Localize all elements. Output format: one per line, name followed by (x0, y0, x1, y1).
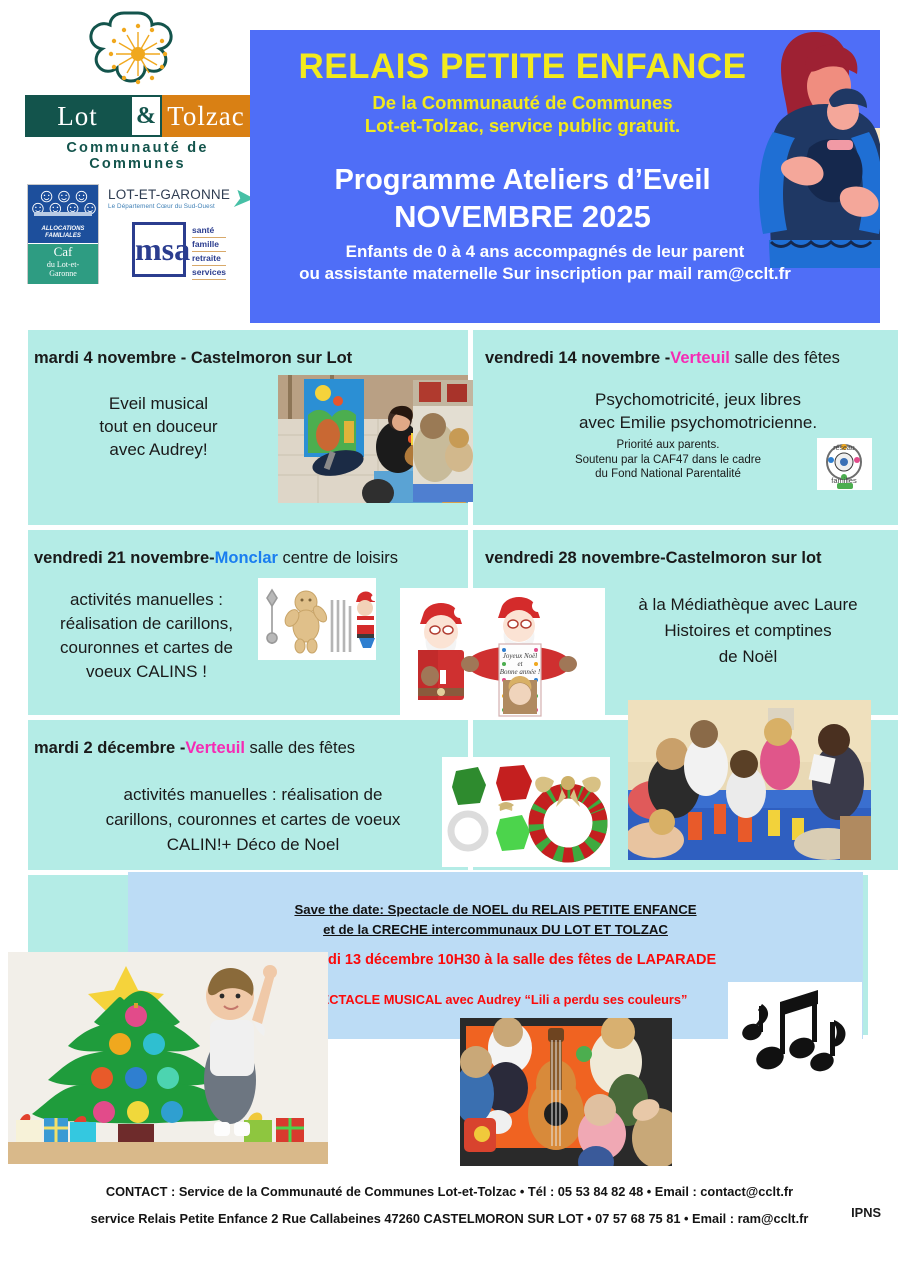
event-location-suffix: salle des fêtes (245, 739, 355, 757)
caf-bar-decoration (34, 212, 92, 216)
reseau-familles-logo: réseau familles (817, 438, 872, 490)
event-title-2-decembre: mardi 2 décembre -Verteuil salle des fêt… (28, 720, 468, 758)
event-location: Castelmoron sur lot (666, 549, 822, 567)
msa-mark: msa (132, 222, 186, 277)
msa-services: santé famille retraite services (192, 224, 226, 280)
svg-text:réseau: réseau (833, 445, 855, 452)
msa-service-sante: santé (192, 224, 226, 238)
poster-header: Lot & Tolzac Communauté de Communes ☺☺☺☺… (0, 0, 899, 330)
note-line: du Fond National Parentalité (523, 467, 813, 482)
save-line-1: Save the date: Spectacle de NOEL du RELA… (128, 900, 863, 920)
event-location-suffix: centre de loisirs (278, 549, 398, 567)
community-subtitle: Communauté de Communes (20, 140, 255, 172)
photo-enfants-guitare (460, 1018, 672, 1166)
save-line-2: et de la CRECHE intercommunaux DU LOT ET… (128, 920, 863, 940)
msa-logo: msa santé famille retraite services (132, 222, 240, 278)
desc-line: couronnes et cartes de (34, 636, 259, 660)
event-date: mardi 2 décembre (34, 739, 175, 757)
logo-group: Lot & Tolzac Communauté de Communes ☺☺☺☺… (20, 8, 255, 284)
event-note-14-novembre: Priorité aux parents. Soutenu par la CAF… (523, 438, 813, 482)
desc-line: voeux CALINS ! (34, 660, 259, 684)
word-tolzac: Tolzac (162, 95, 250, 137)
desc-line: CALIN!+ Déco de Noel (58, 832, 448, 857)
svg-text:Bonne année !: Bonne année ! (500, 668, 541, 676)
departement-name: LOT-ET-GARONNE (108, 187, 248, 202)
event-date: mardi 4 novembre (34, 349, 176, 367)
desc-line: avec Audrey! (46, 438, 271, 461)
desc-line: Eveil musical (46, 392, 271, 415)
event-location: Monclar (215, 549, 278, 567)
desc-line: avec Emilie psychomotricienne. (533, 411, 863, 434)
event-date: vendredi 14 novembre (485, 349, 660, 367)
photo-carillons-bois (258, 578, 376, 660)
note-line: Priorité aux parents. (523, 438, 813, 453)
lot-tolzac-wordmark: Lot & Tolzac (25, 95, 250, 137)
event-location: Castelmoron sur Lot (191, 349, 352, 367)
msa-service-services: services (192, 266, 226, 280)
event-description-14-novembre: Psychomotricité, jeux libres avec Emilie… (533, 388, 863, 434)
event-title-28-novembre: vendredi 28 novembre-Castelmoron sur lot (473, 530, 898, 568)
event-location: Verteuil (185, 739, 245, 757)
word-ampersand: & (130, 95, 162, 137)
save-the-date-heading: Save the date: Spectacle de NOEL du RELA… (128, 900, 863, 940)
program-line: Programme Ateliers d’Eveil (250, 161, 880, 199)
event-date: vendredi 28 novembre (485, 549, 660, 567)
poster-root: Lot & Tolzac Communauté de Communes ☺☺☺☺… (0, 0, 899, 1272)
event-description-28-novembre: à la Médiathèque avec Laure Histoires et… (613, 592, 883, 670)
desc-line: de Noël (613, 644, 883, 670)
caf-sub2: Garonne (28, 269, 98, 278)
ipns-label: IPNS (851, 1205, 881, 1220)
caf-brand: Caf (28, 244, 98, 260)
event-title-14-novembre: vendredi 14 novembre -Verteuil salle des… (473, 330, 898, 368)
poster-footer: CONTACT : Service de la Communauté de Co… (0, 1178, 899, 1232)
desc-line: carillons, couronnes et cartes de voeux (58, 807, 448, 832)
event-title-4-novembre: mardi 4 novembre - Castelmoron sur Lot (28, 330, 468, 368)
svg-text:Joyeux Noël: Joyeux Noël (503, 652, 537, 660)
poster-subtitle: De la Communauté de Communes Lot-et-Tolz… (250, 91, 880, 137)
event-description-4-novembre: Eveil musical tout en douceur avec Audre… (46, 392, 271, 461)
note-line-1: Enfants de 0 à 4 ans accompagnés de leur… (250, 241, 840, 263)
month-line: NOVEMBRE 2025 (250, 199, 880, 235)
caf-sub1: du Lot-et- (28, 260, 98, 269)
event-cell-14-novembre: vendredi 14 novembre -Verteuil salle des… (473, 330, 898, 525)
footer-line-2: service Relais Petite Enfance 2 Rue Call… (0, 1205, 899, 1232)
photo-sapin-noel-enfant (8, 952, 328, 1164)
flower-sun-icon (88, 8, 188, 93)
event-cell-4-novembre: mardi 4 novembre - Castelmoron sur Lot E… (28, 330, 468, 525)
caf-allocations-text: ALLOCATIONSFAMILIALES (28, 226, 98, 240)
desc-line: réalisation de carillons, (34, 612, 259, 636)
msa-service-retraite: retraite (192, 252, 226, 266)
word-lot: Lot (25, 95, 130, 137)
lot-et-tolzac-logo: Lot & Tolzac Communauté de Communes (20, 8, 255, 172)
title-banner: RELAIS PETITE ENFANCE De la Communauté d… (250, 30, 880, 323)
event-date: vendredi 21 novembre (34, 549, 209, 567)
partner-logos: ☺☺☺☺☺☺☺ ALLOCATIONSFAMILIALES Caf du Lot… (20, 184, 255, 284)
footer-line-1: CONTACT : Service de la Communauté de Co… (0, 1178, 899, 1205)
event-location: Verteuil (670, 349, 730, 367)
photo-couronne-noel (442, 757, 610, 867)
msa-service-famille: famille (192, 238, 226, 252)
photo-pere-noel-cartes: Joyeux NoëletBonne année ! (400, 588, 605, 718)
caf-logo: ☺☺☺☺☺☺☺ ALLOCATIONSFAMILIALES Caf du Lot… (27, 184, 99, 284)
registration-note: Enfants de 0 à 4 ans accompagnés de leur… (250, 241, 880, 285)
desc-line: activités manuelles : (34, 588, 259, 612)
event-cell-2-decembre: mardi 2 décembre -Verteuil salle des fêt… (28, 720, 468, 870)
music-notes-icon (728, 982, 862, 1080)
photo-atelier-tapis (628, 700, 871, 860)
photo-psychomotricite (413, 380, 473, 502)
note-line-2: ou assistante maternelle Sur inscription… (250, 263, 840, 285)
subtitle-line-2: Lot-et-Tolzac, service public gratuit. (250, 114, 795, 137)
subtitle-line-1: De la Communauté de Communes (250, 91, 795, 114)
note-line: Soutenu par la CAF47 dans le cadre (523, 453, 813, 468)
desc-line: à la Médiathèque avec Laure (613, 592, 883, 618)
event-title-21-novembre: vendredi 21 novembre-Monclar centre de l… (28, 530, 468, 568)
departement-logo: LOT-ET-GARONNE Le Département Cœur du Su… (108, 187, 248, 210)
poster-title: RELAIS PETITE ENFANCE (250, 46, 880, 88)
desc-line: tout en douceur (46, 415, 271, 438)
event-location-suffix: salle des fêtes (730, 349, 840, 367)
event-description-21-novembre: activités manuelles : réalisation de car… (34, 588, 259, 684)
event-description-2-decembre: activités manuelles : réalisation de car… (58, 782, 448, 857)
desc-line: activités manuelles : réalisation de (58, 782, 448, 807)
desc-line: Histoires et comptines (613, 618, 883, 644)
events-row-1: mardi 4 novembre - Castelmoron sur Lot E… (0, 330, 899, 525)
departement-tagline: Le Département Cœur du Sud-Ouest (108, 203, 248, 210)
desc-line: Psychomotricité, jeux libres (533, 388, 863, 411)
